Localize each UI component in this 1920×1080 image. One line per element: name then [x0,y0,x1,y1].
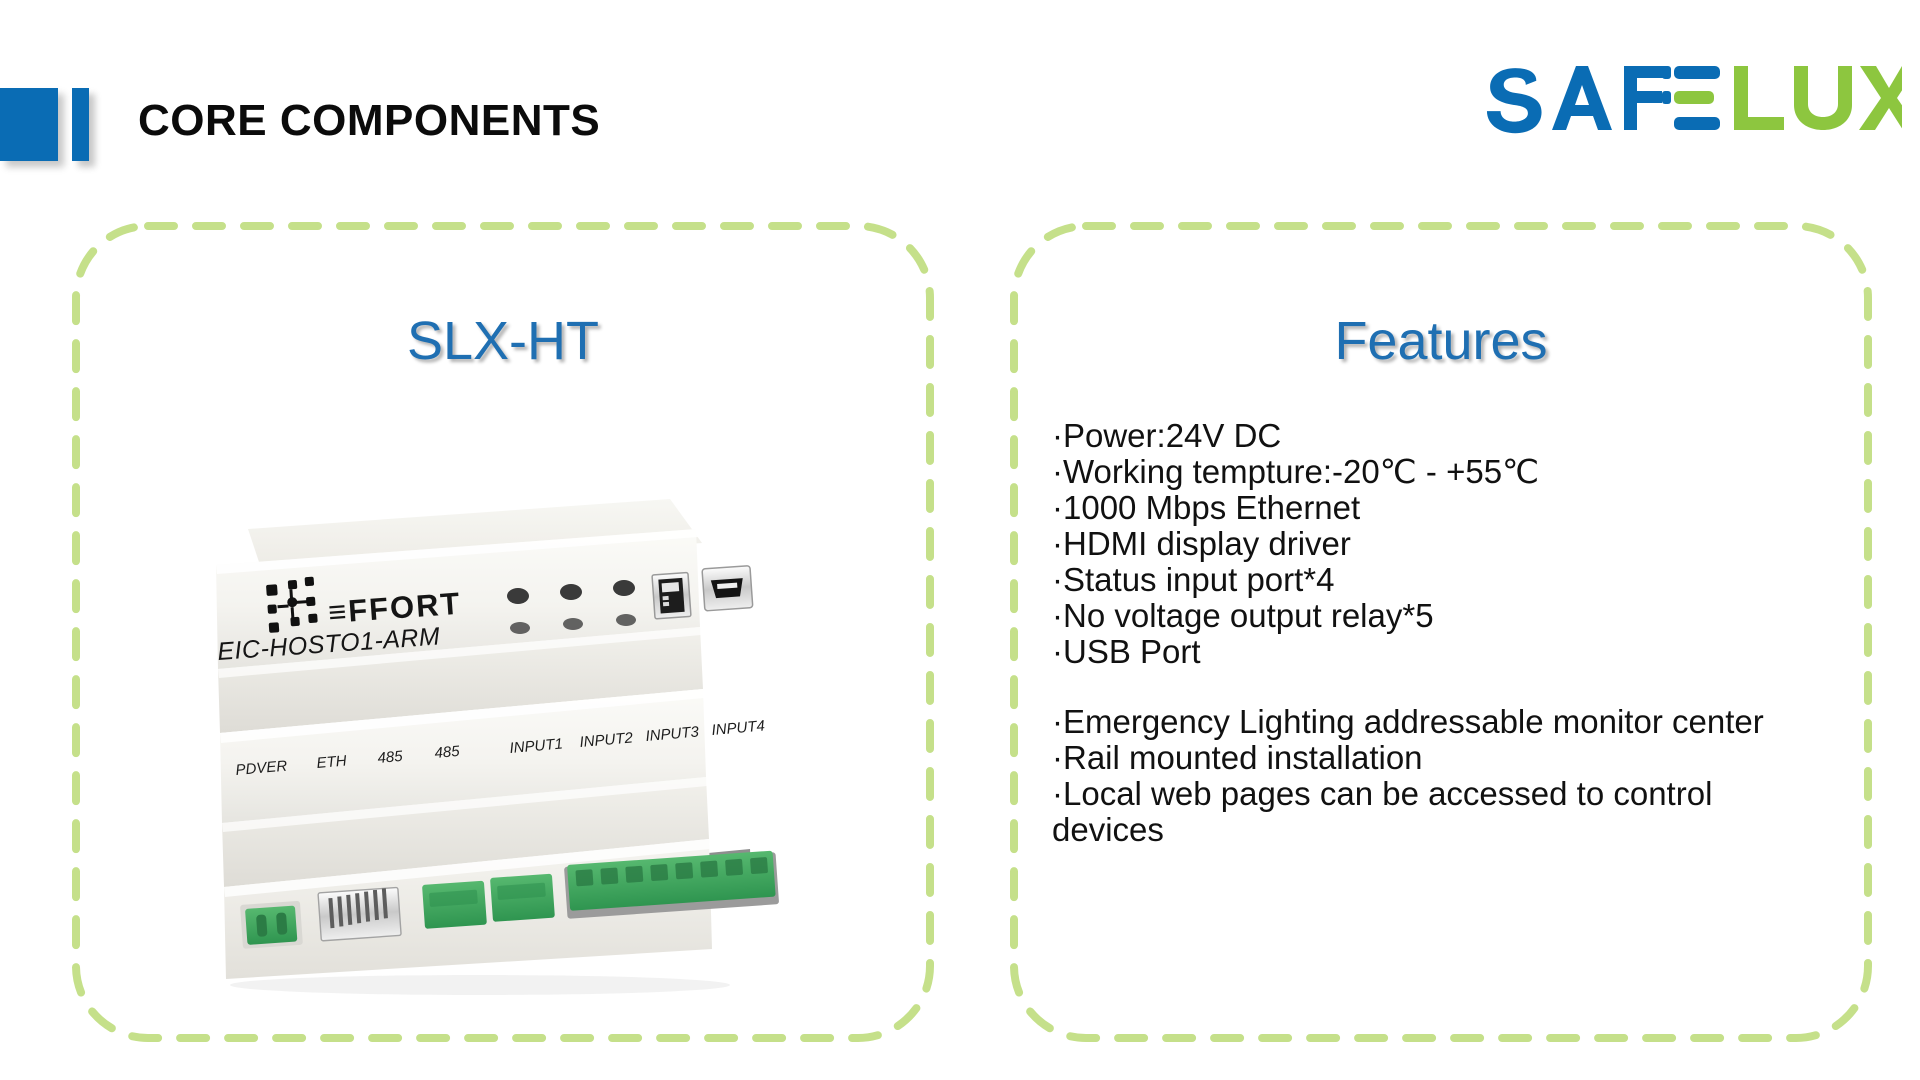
hdmi-port [702,566,753,611]
features-list: ·Power:24V DC ·Working tempture:-20℃ - +… [1052,418,1824,848]
ethernet-jack [318,887,401,940]
port-label-eth: ETH [316,752,348,772]
header-accent-block [0,88,58,161]
feature-item: ·HDMI display driver [1052,526,1824,562]
header-accent-bar [72,88,89,161]
feature-item: ·Emergency Lighting addressable monitor … [1052,704,1824,740]
device-image-slx-ht: ≡FFORT EIC-HOSTO1-ARM [190,457,810,997]
power-connector [240,901,303,949]
panel-product: SLX-HT [72,222,934,1042]
rs485-connector-2 [490,874,555,922]
feature-item: ·Power:24V DC [1052,418,1824,454]
feature-item: ·1000 Mbps Ethernet [1052,490,1824,526]
usb-port [652,572,691,618]
product-title: SLX-HT [72,310,934,372]
port-label-485-2: 485 [434,743,461,762]
rs485-connector-1 [422,881,487,929]
feature-item: ·Working tempture:-20℃ - +55℃ [1052,454,1824,490]
feature-item: ·No voltage output relay*5 [1052,598,1824,634]
port-label-input4: INPUT4 [711,717,766,739]
feature-item: ·USB Port [1052,634,1824,670]
feature-item: ·Local web pages can be accessed to cont… [1052,776,1824,848]
page-title: CORE COMPONENTS [138,96,600,146]
slide-header: CORE COMPONENTS [0,0,1920,190]
safelux-logo [1482,60,1902,138]
features-spacer [1052,670,1824,704]
panel-features: Features ·Power:24V DC ·Working tempture… [1010,222,1872,1042]
feature-item: ·Status input port*4 [1052,562,1824,598]
features-title: Features [1010,310,1872,372]
port-label-485-1: 485 [377,748,404,767]
feature-item: ·Rail mounted installation [1052,740,1824,776]
